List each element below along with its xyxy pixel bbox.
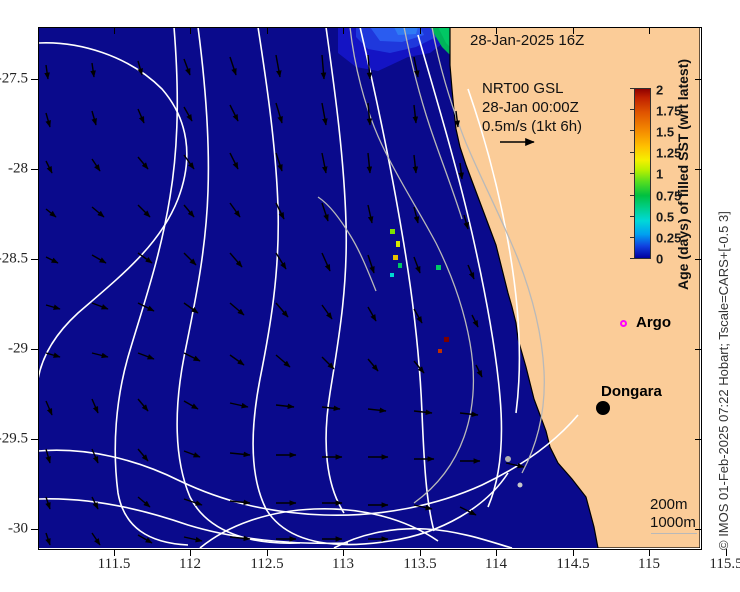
x-tick	[190, 549, 191, 556]
x-tick-label: 112.5	[250, 556, 283, 573]
y-tick-right	[695, 169, 701, 170]
y-tick-right	[695, 79, 701, 80]
depth-legend-200m: 200m	[650, 496, 696, 514]
x-tick-label: 114	[485, 556, 507, 573]
colorbar-tick	[630, 216, 634, 217]
x-tick-label: 114.5	[556, 556, 589, 573]
x-tick-label: 113	[332, 556, 354, 573]
y-tick-right	[695, 439, 701, 440]
x-tick	[649, 549, 650, 556]
colorbar	[634, 88, 651, 259]
x-tick-label: 112	[179, 556, 201, 573]
x-tick	[114, 549, 115, 556]
colorbar-tick	[630, 130, 634, 131]
y-tick	[31, 349, 38, 350]
x-tick	[726, 549, 727, 556]
y-tick	[31, 439, 38, 440]
x-tick	[267, 549, 268, 556]
colorbar-tick	[630, 237, 634, 238]
annotation-model-name: NRT00 GSL	[482, 80, 563, 97]
colorbar-tick	[630, 195, 634, 196]
x-tick-top	[343, 28, 344, 34]
y-tick-label: -30	[8, 521, 28, 538]
y-tick	[31, 259, 38, 260]
annotation-datetime: 28-Jan-2025 16Z	[470, 32, 584, 49]
depth-legend-rule	[651, 533, 697, 534]
colorbar-tick	[630, 258, 634, 259]
sst-age-map-figure: 28-Jan-2025 16Z NRT00 GSL 28-Jan 00:00Z …	[0, 0, 740, 592]
y-tick-right	[695, 259, 701, 260]
argo-label: Argo	[636, 314, 671, 331]
x-tick	[496, 549, 497, 556]
colorbar-label: 2	[656, 83, 663, 98]
x-tick-top	[649, 28, 650, 34]
x-tick-top	[114, 28, 115, 34]
x-tick-top	[190, 28, 191, 34]
y-tick-right	[695, 349, 701, 350]
y-tick-label: -28	[8, 161, 28, 178]
y-tick	[31, 169, 38, 170]
y-tick-label: -27.5	[0, 71, 28, 88]
x-tick-label: 115	[638, 556, 660, 573]
dongara-label: Dongara	[601, 383, 662, 400]
x-tick-top	[267, 28, 268, 34]
dongara-marker	[594, 399, 612, 417]
vector-scale-arrow-icon	[498, 135, 548, 149]
colorbar-label: 0.5	[656, 210, 674, 225]
y-tick-label: -29.5	[0, 431, 28, 448]
colorbar-tick	[630, 109, 634, 110]
map-canvas	[38, 27, 700, 548]
x-tick-label: 115.5	[709, 556, 740, 573]
depth-contour-legend: 200m 1000m	[650, 496, 696, 532]
argo-marker-icon	[620, 320, 627, 327]
x-tick-top	[496, 28, 497, 34]
x-tick-label: 111.5	[98, 556, 131, 573]
annotation-model-time: 28-Jan 00:00Z	[482, 99, 579, 116]
x-tick	[420, 549, 421, 556]
depth-legend-1000m: 1000m	[650, 514, 696, 532]
x-tick-top	[573, 28, 574, 34]
colorbar-tick	[630, 88, 634, 89]
annotation-vector-scale: 0.5m/s (1kt 6h)	[482, 118, 582, 135]
y-tick	[31, 529, 38, 530]
y-tick-label: -28.5	[0, 251, 28, 268]
x-tick-label: 113.5	[403, 556, 436, 573]
map-plot-area[interactable]: 28-Jan-2025 16Z NRT00 GSL 28-Jan 00:00Z …	[38, 27, 700, 548]
y-tick-right	[695, 529, 701, 530]
y-tick-label: -29	[8, 341, 28, 358]
y-tick	[31, 79, 38, 80]
colorbar-label: 1.5	[656, 125, 674, 140]
x-tick	[343, 549, 344, 556]
colorbar-tick	[630, 152, 634, 153]
colorbar-label: 0	[656, 252, 663, 267]
x-tick-top	[420, 28, 421, 34]
colorbar-title: Age (days) of filled SST (wrt latest)	[675, 30, 691, 290]
x-tick	[573, 549, 574, 556]
credit-text: © IMOS 01-Feb-2025 07:22 Hobart; Tscale=…	[716, 211, 731, 550]
colorbar-label: 1	[656, 167, 663, 182]
colorbar-tick	[630, 173, 634, 174]
